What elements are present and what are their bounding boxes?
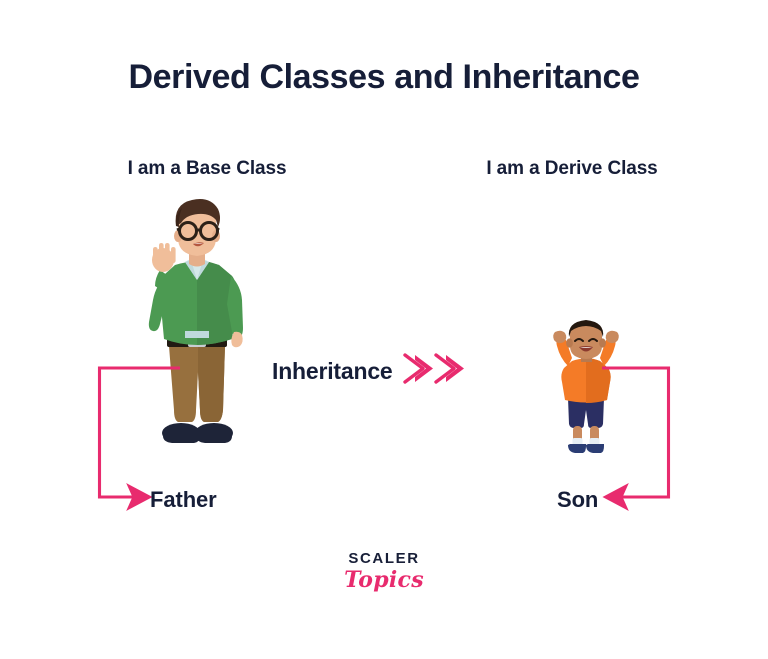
man-waving-illustration [122, 196, 272, 458]
inheritance-relationship: Inheritance [272, 351, 464, 392]
derived-class-node-name: Son [557, 487, 598, 513]
logo-topics-text: Topics [0, 568, 768, 593]
base-class-caption: I am a Base Class [82, 158, 332, 180]
double-chevron-right-icon [402, 351, 464, 392]
page-title: Derived Classes and Inheritance [0, 58, 768, 97]
base-class-node-name: Father [150, 487, 217, 513]
logo-scaler-text: SCALER [0, 551, 768, 568]
derived-class-caption: I am a Derive Class [447, 158, 697, 180]
infographic-canvas: Derived Classes and Inheritance I am a B… [0, 0, 768, 659]
inheritance-label: Inheritance [272, 358, 393, 385]
boy-cheering-illustration [538, 318, 634, 458]
scaler-topics-logo: SCALER Topics [0, 551, 768, 593]
